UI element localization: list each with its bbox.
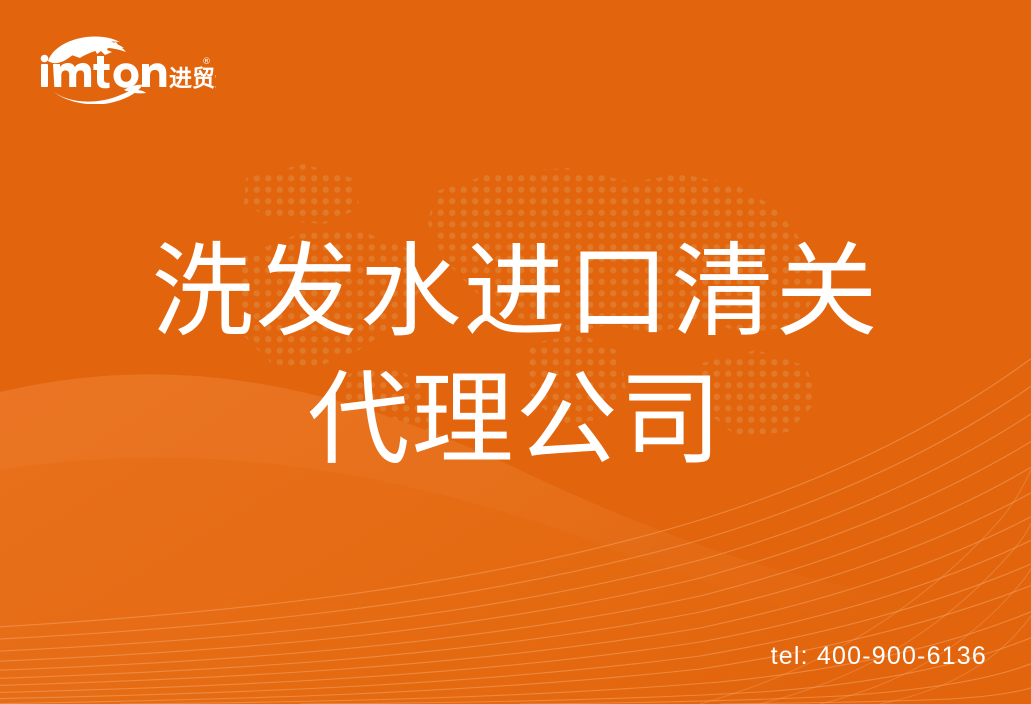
- swoosh-icon: [54, 85, 146, 104]
- trademark-symbol: ®: [202, 57, 211, 67]
- promo-banner: 进贸通 ® 洗发水进口清关 代理公司 tel: 400-900-6136: [0, 0, 1031, 704]
- headline-line-1: 洗发水进口清关: [0, 228, 1031, 356]
- globe-icon: [48, 36, 126, 63]
- page-title: 洗发水进口清关 代理公司: [0, 228, 1031, 484]
- brand-logo[interactable]: 进贸通 ®: [36, 28, 216, 104]
- headline-line-2: 代理公司: [0, 356, 1031, 484]
- brand-chinese-text: 进贸通: [169, 66, 216, 92]
- contact-telephone: tel: 400-900-6136: [771, 642, 987, 671]
